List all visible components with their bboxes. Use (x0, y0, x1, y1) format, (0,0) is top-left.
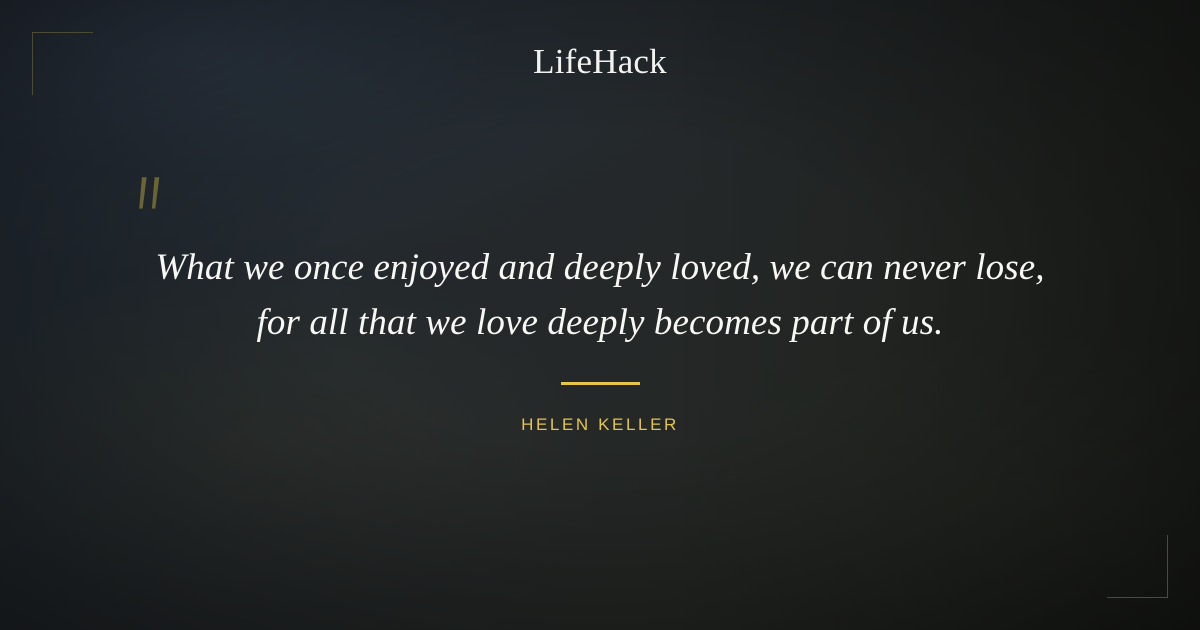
corner-bracket-icon-bottom-right (1107, 535, 1168, 598)
double-quote-icon (134, 176, 168, 214)
quote-text: What we once enjoyed and deeply loved, w… (0, 240, 1200, 350)
gold-divider (561, 382, 640, 385)
quote-block: What we once enjoyed and deeply loved, w… (0, 240, 1200, 350)
quote-author: HELEN KELLER (0, 413, 1200, 437)
brand-logo: LifeHack (0, 40, 1200, 84)
quote-card: LifeHack What we once enjoyed and deeply… (0, 0, 1200, 630)
